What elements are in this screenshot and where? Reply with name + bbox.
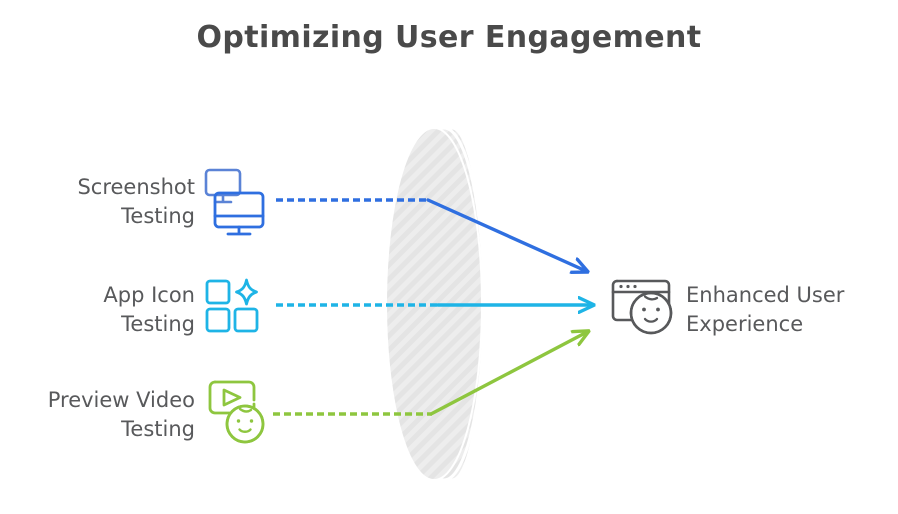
grid-sparkle-icon xyxy=(207,280,257,331)
node-screenshot-testing-label: Screenshot Testing xyxy=(0,173,195,231)
browser-smiley-icon xyxy=(613,281,671,333)
node-enhanced-user-experience-label: Enhanced User Experience xyxy=(686,281,898,339)
page-title: Optimizing User Engagement xyxy=(0,20,898,55)
node-app-icon-testing-label: App Icon Testing xyxy=(0,281,195,339)
node-preview-video-testing-label: Preview Video Testing xyxy=(0,386,195,444)
two-monitors-icon xyxy=(206,170,263,234)
video-smiley-icon xyxy=(210,382,263,442)
